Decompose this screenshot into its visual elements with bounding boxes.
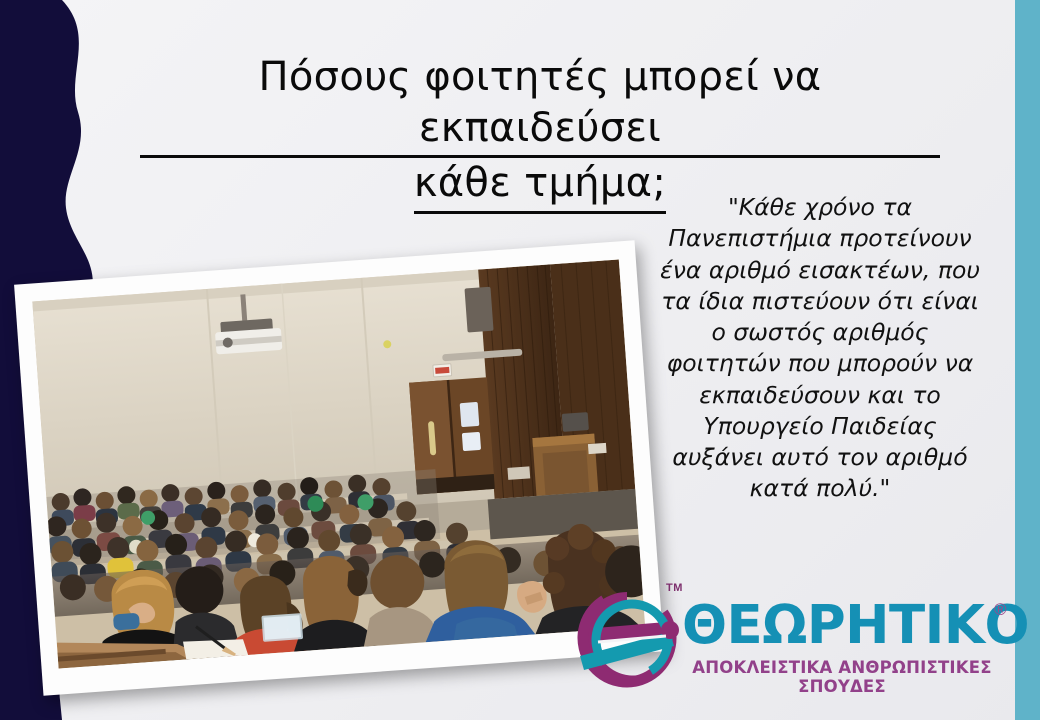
logo-wordmark: ΘΕΩΡΗΤΙΚΟ <box>682 595 1029 656</box>
page-title-line-1: Πόσους φοιτητές μπορεί να εκπαιδεύσει <box>140 52 940 158</box>
quote-line: τα ίδια πιστεύουν ότι είναι <box>655 286 985 317</box>
quote-line: φοιτητών που μπορούν να <box>655 348 985 379</box>
quote-line: Πανεπιστήμια προτείνουν <box>655 223 985 254</box>
logo-tagline: ΑΠΟΚΛΕΙΣΤΙΚΑ ΑΝΘΡΩΠΙΣΤΙΚΕΣ ΣΠΟΥΔΕΣ <box>682 658 1002 697</box>
page-title: Πόσους φοιτητές μπορεί να εκπαιδεύσει κά… <box>140 52 940 214</box>
quote-line: αυξάνει αυτό τον αριθμό <box>655 442 985 473</box>
quote-line: Υπουργείο Παιδείας <box>655 411 985 442</box>
theoritiko-logo[interactable]: TM ΘΕΩΡΗΤΙΚΟ ® ΑΠΟΚΛΕΙΣΤΙΚΑ ΑΝΘΡΩΠΙΣΤΙΚΕ… <box>566 578 1026 713</box>
quote-line: ο σωστός αριθμός <box>655 317 985 348</box>
quote-line: εκπαιδεύσουν και το <box>655 380 985 411</box>
slide-canvas: Πόσους φοιτητές μπορεί να εκπαιδεύσει κά… <box>0 0 1040 720</box>
trademark-mark: TM <box>666 582 683 594</box>
quote-line: ένα αριθμό εισακτέων, που <box>655 255 985 286</box>
quote-text: "Κάθε χρόνο τα Πανεπιστήμια προτείνουν έ… <box>655 192 985 505</box>
lecture-hall-photo-art <box>32 259 645 668</box>
page-title-line-2: κάθε τμήμα; <box>414 158 666 213</box>
lecture-hall-photo <box>32 259 645 668</box>
quote-line: "Κάθε χρόνο τα <box>655 192 985 223</box>
theoritiko-emblem-icon <box>566 584 688 694</box>
logo-tagline-line-1: ΑΠΟΚΛΕΙΣΤΙΚΑ ΑΝΘΡΩΠΙΣΤΙΚΕΣ <box>692 658 991 677</box>
quote-line: κατά πολύ." <box>655 473 985 504</box>
logo-tagline-line-2: ΣΠΟΥΔΕΣ <box>798 677 886 696</box>
registered-mark: ® <box>994 600 1007 620</box>
